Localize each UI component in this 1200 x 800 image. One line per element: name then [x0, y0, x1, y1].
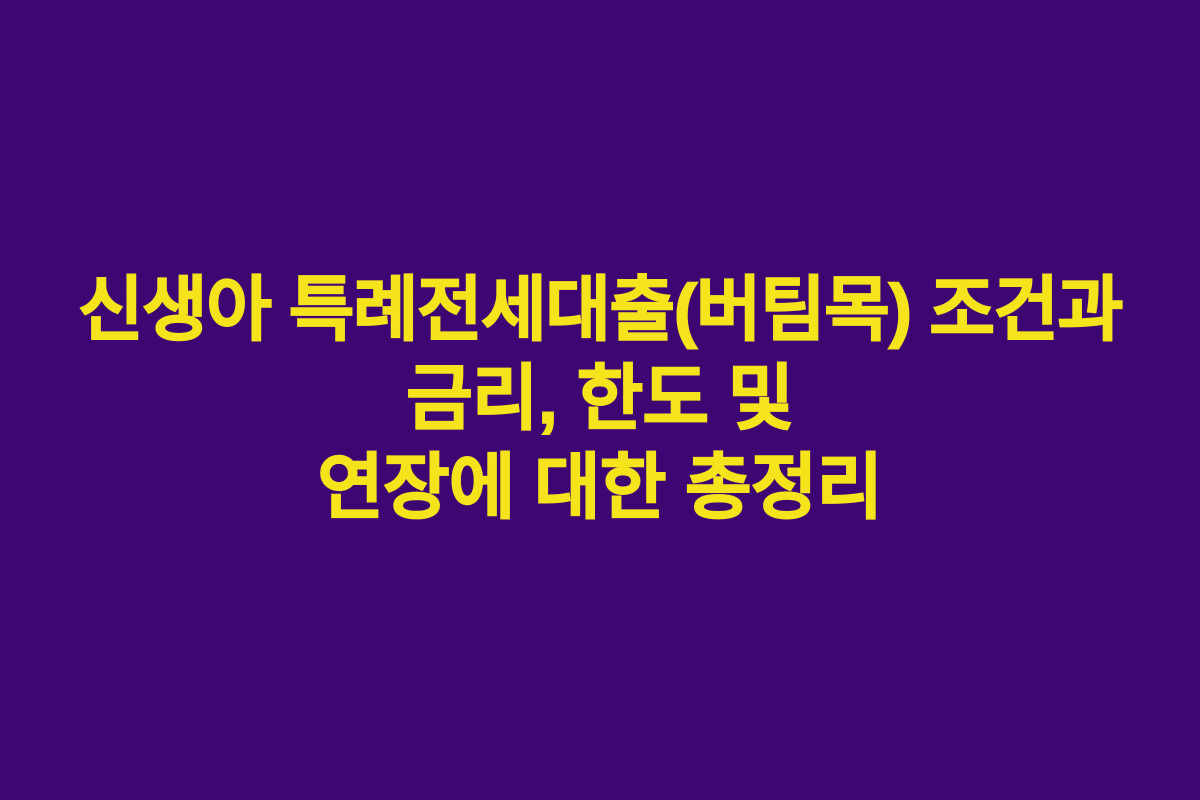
headline-line-2: 금리, 한도 및	[24, 355, 1176, 444]
headline-line-3: 연장에 대한 총정리	[24, 444, 1176, 533]
headline-block: 신생아 특례전세대출(버팀목) 조건과 금리, 한도 및 연장에 대한 총정리	[0, 267, 1200, 534]
headline-line-1: 신생아 특례전세대출(버팀목) 조건과	[24, 267, 1176, 355]
thumbnail-banner: 신생아 특례전세대출(버팀목) 조건과 금리, 한도 및 연장에 대한 총정리	[0, 0, 1200, 800]
